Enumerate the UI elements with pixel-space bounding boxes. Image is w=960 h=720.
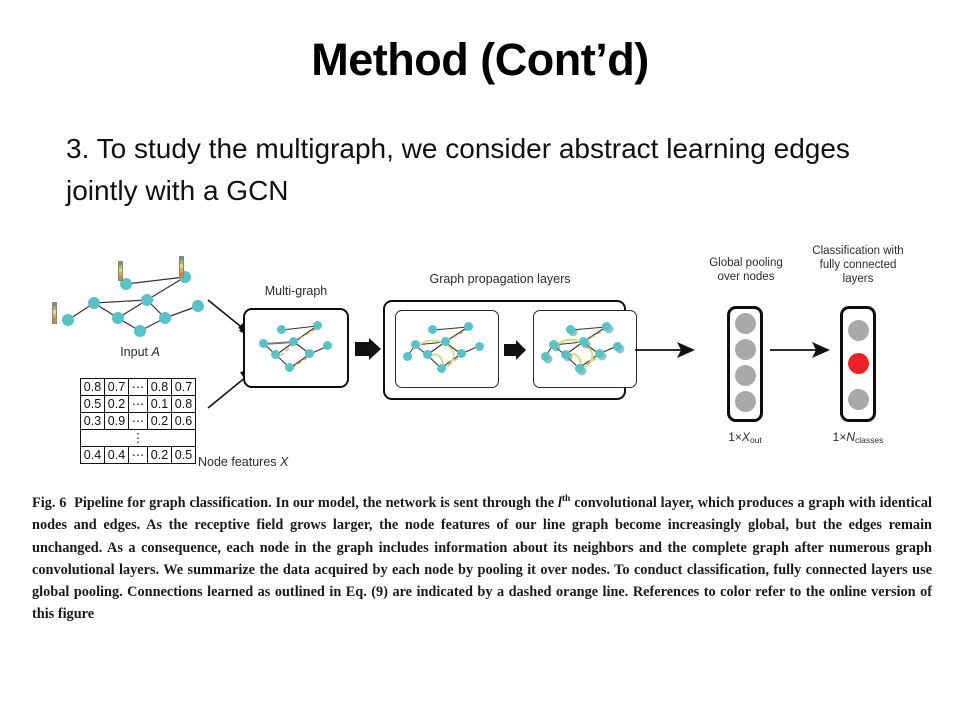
multigraph-node (277, 325, 286, 334)
pooling-unit (735, 365, 756, 386)
propagation-node (441, 337, 450, 346)
caption-figure-number: Fig. 6 (32, 495, 66, 511)
input-graph-node (88, 297, 100, 309)
matrix-cell: 0.2 (148, 413, 172, 430)
class-unit (848, 320, 869, 341)
propagation-node (475, 342, 484, 351)
propagation-node (457, 349, 466, 358)
matrix-cell: 0.1 (148, 396, 172, 413)
matrix-cell: 0.4 (105, 447, 129, 464)
propagation-node (411, 340, 420, 349)
node-feature-bar (52, 302, 57, 324)
pooling-dimension-label: 1×Xout (728, 430, 762, 445)
multigraph-node (305, 349, 314, 358)
matrix-cell: 0.7 (105, 379, 129, 396)
input-graph-node (134, 325, 146, 337)
matrix-row: 0.4 0.4 ⋯ 0.2 0.5 (81, 447, 196, 464)
arrow-propagation-to-pooling (635, 340, 697, 360)
classification-label-line3: layers (843, 273, 874, 285)
propagation-node (566, 325, 575, 334)
multigraph-node (289, 337, 298, 346)
propagation-node (595, 349, 604, 358)
input-a-label: Input A (120, 345, 160, 360)
propagation-node (579, 337, 588, 346)
matrix-cell: 0.3 (81, 413, 105, 430)
matrix-cell: 0.8 (81, 379, 105, 396)
propagation-node (437, 364, 446, 373)
matrix-row: 0.8 0.7 ⋯ 0.8 0.7 (81, 379, 196, 396)
pooling-unit (735, 391, 756, 412)
matrix-cell: 0.7 (172, 379, 196, 396)
matrix-cell: 0.4 (81, 447, 105, 464)
propagation-node (403, 352, 412, 361)
classes-dimension-label: 1×Nclasses (833, 430, 884, 445)
node-features-matrix: 0.8 0.7 ⋯ 0.8 0.7 0.5 0.2 ⋯ 0.1 0.8 0.3 … (80, 378, 196, 464)
propagation-node (541, 352, 550, 361)
node-feature-bar (179, 256, 184, 278)
pooling-unit (735, 313, 756, 334)
classification-label-line1: Classification with (812, 245, 903, 257)
pipeline-figure: Input A 0.8 0.7 ⋯ 0.8 0.7 0.5 0.2 ⋯ 0.1 … (30, 250, 930, 490)
matrix-cell: 0.5 (81, 396, 105, 413)
global-pooling-label-line1: Global pooling (709, 257, 783, 269)
body-text: 3. To study the multigraph, we consider … (66, 128, 906, 212)
propagation-node (428, 325, 437, 334)
multi-graph-label: Multi-graph (265, 284, 328, 299)
matrix-cell-ellipsis: ⋯ (129, 447, 148, 464)
multigraph-node (285, 363, 294, 372)
matrix-cell: 0.8 (148, 379, 172, 396)
node-feature-bar (118, 261, 123, 281)
classification-label-line2: fully connected (820, 259, 897, 271)
matrix-cell-ellipsis: ⋯ (129, 413, 148, 430)
figure-caption: Fig. 6 Pipeline for graph classification… (32, 492, 932, 626)
class-unit (848, 389, 869, 410)
multigraph-node (259, 339, 268, 348)
propagation-node (561, 350, 570, 359)
classification-label: Classification with fully connected laye… (798, 244, 918, 286)
input-graph-node (112, 312, 124, 324)
graph-propagation-label: Graph propagation layers (429, 272, 570, 287)
pooling-unit (735, 339, 756, 360)
matrix-cell: 0.8 (172, 396, 196, 413)
caption-part1: Pipeline for graph classification. In ou… (74, 495, 558, 511)
multigraph-node (323, 341, 332, 350)
matrix-row: 0.5 0.2 ⋯ 0.1 0.8 (81, 396, 196, 413)
input-graph-node (141, 294, 153, 306)
matrix-row-ellipsis: ⋮ (81, 430, 196, 447)
global-pooling-label-line2: over nodes (718, 271, 775, 283)
matrix-cell: 0.6 (172, 413, 196, 430)
input-graph-node (192, 300, 204, 312)
matrix-cell: 0.5 (172, 447, 196, 464)
propagation-node (575, 364, 584, 373)
class-unit-selected (848, 353, 869, 374)
arrow-multigraph-to-propagation (355, 338, 383, 360)
matrix-vertical-ellipsis: ⋮ (81, 430, 196, 447)
matrix-cell: 0.2 (148, 447, 172, 464)
page-title: Method (Cont’d) (0, 36, 960, 83)
multigraph-node (313, 321, 322, 330)
arrow-pooling-to-classification (770, 340, 832, 360)
input-graph-node (159, 312, 171, 324)
matrix-cell: 0.2 (105, 396, 129, 413)
multigraph-node (271, 350, 280, 359)
matrix-row: 0.3 0.9 ⋯ 0.2 0.6 (81, 413, 196, 430)
propagation-node (423, 350, 432, 359)
node-features-label: Node features X (198, 455, 288, 470)
input-graph-node (62, 314, 74, 326)
propagation-node (549, 340, 558, 349)
matrix-cell-ellipsis: ⋯ (129, 396, 148, 413)
caption-part2: convolutional layer, which produces a gr… (32, 495, 932, 622)
propagation-node (602, 322, 611, 331)
matrix-cell: 0.9 (105, 413, 129, 430)
propagation-node (613, 342, 622, 351)
arrow-layer1-to-layer2 (504, 340, 528, 360)
propagation-node (464, 322, 473, 331)
slide-canvas: Method (Cont’d) 3. To study the multigra… (0, 0, 960, 720)
matrix-cell-ellipsis: ⋯ (129, 379, 148, 396)
global-pooling-label: Global pooling over nodes (698, 256, 794, 284)
